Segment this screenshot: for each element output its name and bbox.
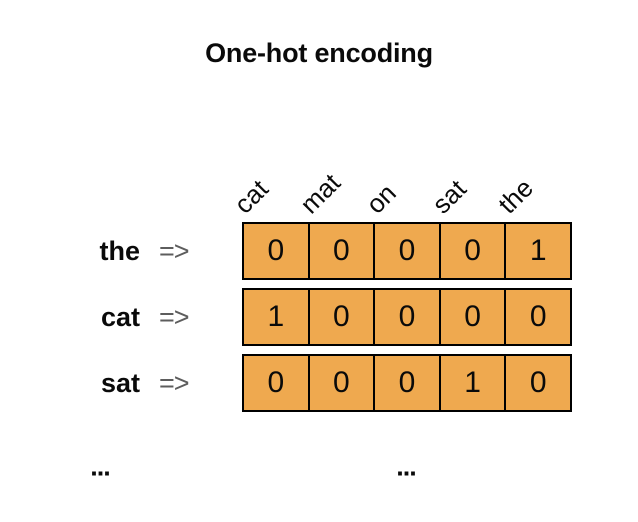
ellipsis-cells: ... <box>396 454 416 481</box>
row-word: sat <box>0 368 140 399</box>
arrow-icon: => <box>159 302 189 333</box>
matrix-cell: 0 <box>310 224 376 278</box>
one-hot-encoding-figure: One-hot encoding cat mat on sat the the … <box>0 0 638 522</box>
column-header-label: cat <box>230 175 273 218</box>
matrix-row: 1 0 0 0 0 <box>242 288 572 346</box>
row-label-column: the => cat => sat => <box>0 222 242 408</box>
matrix-cell: 0 <box>310 290 376 344</box>
matrix-cell: 0 <box>375 224 441 278</box>
row-word: cat <box>0 302 140 333</box>
matrix-cell: 0 <box>506 290 570 344</box>
column-header-row: cat mat on sat the <box>242 120 572 220</box>
row-label-sat: sat => <box>0 354 242 412</box>
column-header-the: the <box>506 120 572 220</box>
column-header-on: on <box>374 120 440 220</box>
arrow-icon: => <box>159 368 189 399</box>
arrow-icon: => <box>159 236 189 267</box>
row-word: the <box>0 236 140 267</box>
matrix-cell: 0 <box>244 224 310 278</box>
matrix-cell: 1 <box>441 356 507 410</box>
column-header-mat: mat <box>308 120 374 220</box>
matrix-cell: 0 <box>506 356 570 410</box>
matrix-cell: 0 <box>375 290 441 344</box>
matrix-cell: 0 <box>310 356 376 410</box>
column-header-sat: sat <box>440 120 506 220</box>
matrix-cell: 1 <box>244 290 310 344</box>
one-hot-matrix: 0 0 0 0 1 1 0 0 0 0 0 0 0 1 0 <box>242 222 572 408</box>
matrix-cell: 0 <box>441 290 507 344</box>
ellipsis-rows: ... <box>90 454 110 481</box>
column-header-cat: cat <box>242 120 308 220</box>
matrix-cell: 0 <box>441 224 507 278</box>
matrix-row: 0 0 0 0 1 <box>242 222 572 280</box>
matrix-cell: 1 <box>506 224 570 278</box>
row-label-the: the => <box>0 222 242 280</box>
matrix-cell: 0 <box>244 356 310 410</box>
row-label-cat: cat => <box>0 288 242 346</box>
figure-title: One-hot encoding <box>0 38 638 69</box>
matrix-cell: 0 <box>375 356 441 410</box>
matrix-row: 0 0 0 1 0 <box>242 354 572 412</box>
